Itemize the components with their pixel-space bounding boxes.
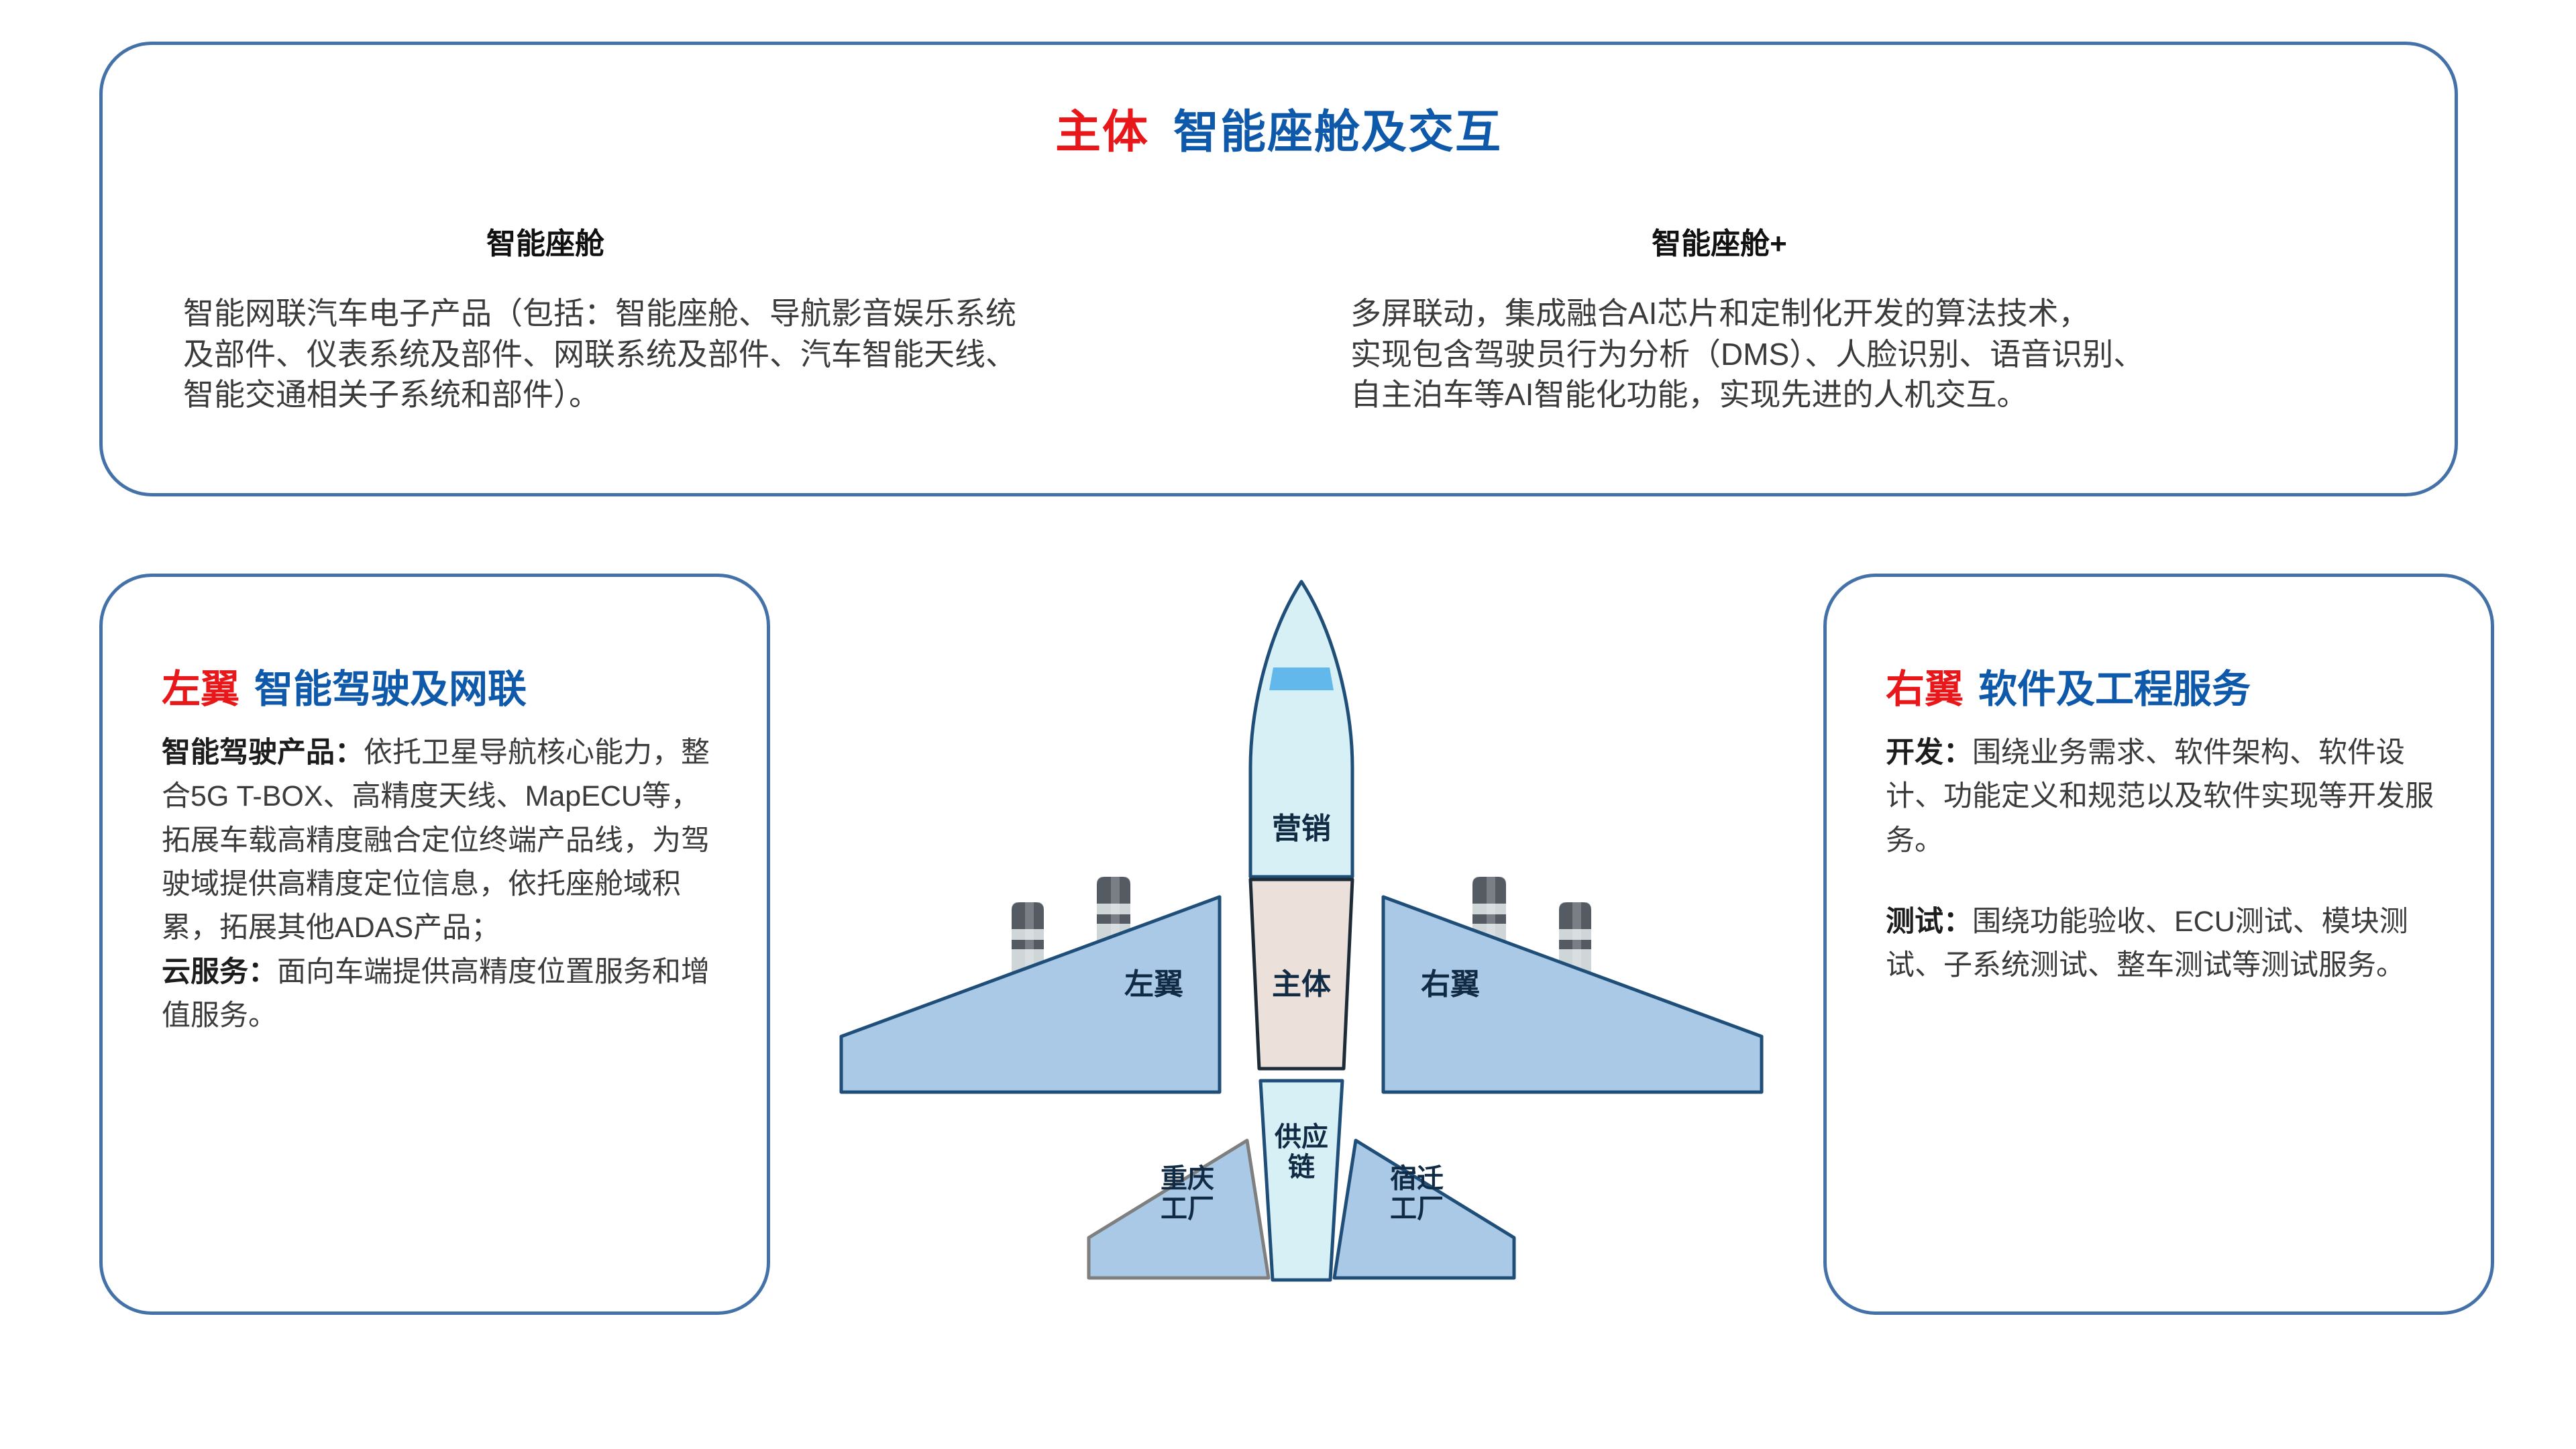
right-panel-body: 开发：围绕业务需求、软件架构、软件设计、功能定义和规范以及软件实现等开发服务。 …	[1886, 731, 2449, 988]
panel-title-tag: 主体	[1055, 107, 1149, 158]
right-panel-title-tag: 右翼	[1886, 667, 1964, 711]
left-panel-item-1: 云服务：面向车端提供高精度位置服务和增值服务。	[162, 951, 725, 1038]
supply-chain-shape	[1260, 1081, 1342, 1280]
panel-title-main: 主体智能座舱及交互	[103, 95, 2455, 161]
left-panel-body: 智能驾驶产品：依托卫星导航核心能力，整合5G T-BOX、高精度天线、MapEC…	[162, 731, 725, 1038]
cockpit-window-icon	[1269, 667, 1334, 690]
fuselage-shape	[1250, 879, 1352, 1069]
column-heading: 智能座舱+	[1317, 219, 2417, 262]
item-label: 智能驾驶产品：	[162, 737, 364, 769]
left-tail-shape	[1089, 1140, 1269, 1278]
right-wing-panel: 右翼软件及工程服务 开发：围绕业务需求、软件架构、软件设计、功能定义和规范以及软…	[1823, 574, 2494, 1315]
right-panel-item-1: 测试：围绕功能验收、ECU测试、模块测试、子系统测试、整车测试等测试服务。	[1886, 900, 2449, 988]
column-body-text: 智能网联汽车电子产品（包括：智能座舱、导航影音娱乐系统 及部件、仪表系统及部件、…	[150, 293, 1263, 415]
right-panel-item-0: 开发：围绕业务需求、软件架构、软件设计、功能定义和规范以及软件实现等开发服务。	[1886, 731, 2449, 863]
left-panel-item-0: 智能驾驶产品：依托卫星导航核心能力，整合5G T-BOX、高精度天线、MapEC…	[162, 731, 725, 951]
left-panel-title-text: 智能驾驶及网联	[254, 667, 527, 711]
right-panel-title-text: 软件及工程服务	[1978, 667, 2251, 711]
column-body-text: 多屏联动，集成融合AI芯片和定制化开发的算法技术， 实现包含驾驶员行为分析（DM…	[1317, 293, 2417, 415]
top-column-smart-cockpit: 智能座舱 智能网联汽车电子产品（包括：智能座舱、导航影音娱乐系统 及部件、仪表系…	[150, 219, 1263, 415]
airplane-diagram: 营销 主体 左翼 右翼 供应 链 重庆 工厂 宿迁 工厂	[832, 567, 1771, 1301]
item-label: 测试：	[1886, 906, 1972, 938]
main-body-panel: 主体智能座舱及交互 智能座舱 智能网联汽车电子产品（包括：智能座舱、导航影音娱乐…	[99, 42, 2458, 496]
left-wing-panel: 左翼智能驾驶及网联 智能驾驶产品：依托卫星导航核心能力，整合5G T-BOX、高…	[99, 574, 770, 1315]
item-label: 云服务：	[162, 956, 277, 988]
right-panel-title: 右翼软件及工程服务	[1886, 657, 2251, 714]
left-panel-title: 左翼智能驾驶及网联	[162, 657, 527, 714]
top-column-smart-cockpit-plus: 智能座舱+ 多屏联动，集成融合AI芯片和定制化开发的算法技术， 实现包含驾驶员行…	[1317, 219, 2417, 415]
right-tail-shape	[1334, 1140, 1514, 1278]
airplane-svg	[832, 567, 1771, 1301]
paragraph-spacer	[1886, 863, 2449, 900]
item-label: 开发：	[1886, 737, 1972, 769]
left-panel-title-tag: 左翼	[162, 667, 239, 711]
column-heading: 智能座舱	[150, 219, 1263, 262]
nose-shape	[1250, 582, 1352, 877]
panel-title-text: 智能座舱及交互	[1173, 107, 1502, 158]
